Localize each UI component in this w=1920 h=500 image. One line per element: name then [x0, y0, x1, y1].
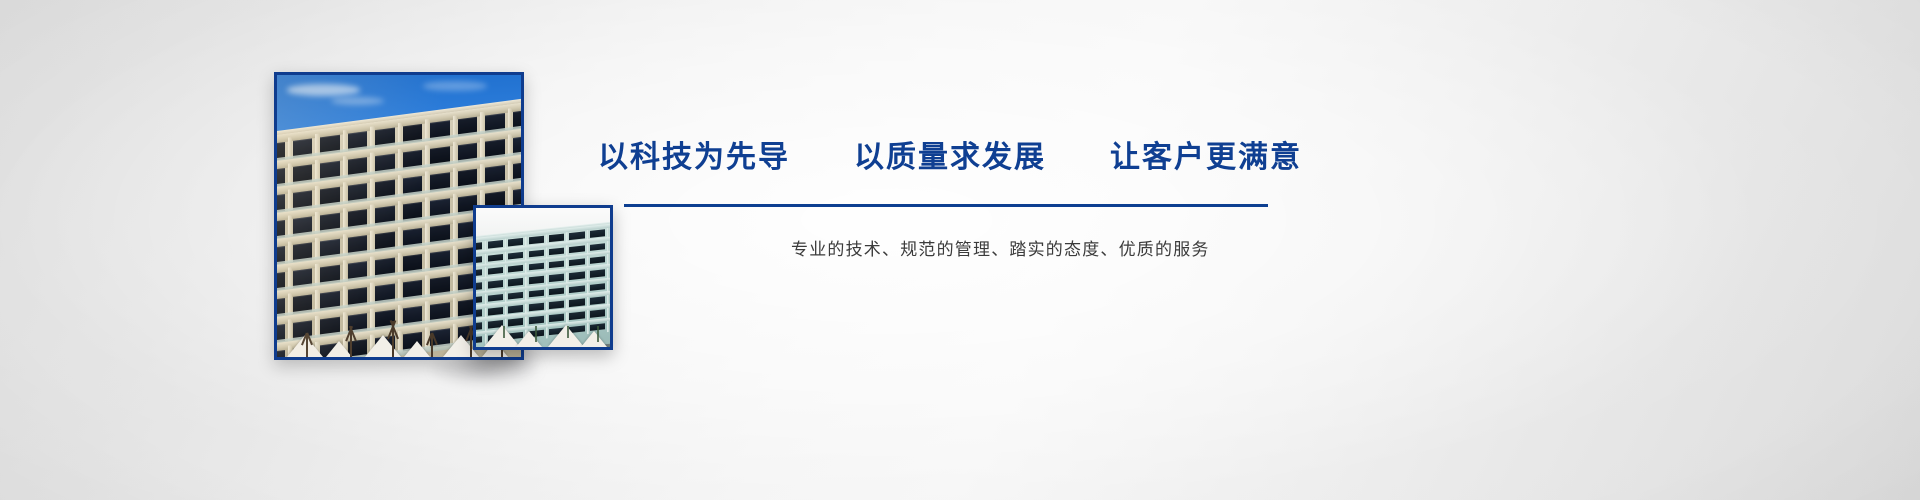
window-pane: [529, 235, 544, 243]
window-pane: [488, 307, 503, 315]
window-pane: [476, 269, 483, 277]
window-pane: [508, 291, 523, 299]
bare-tree: [392, 321, 394, 357]
window-pane: [590, 242, 605, 250]
tree: [535, 326, 537, 342]
cloud: [331, 97, 385, 105]
window-pane: [549, 300, 564, 308]
window-pane: [549, 260, 564, 268]
window-pane: [590, 283, 605, 291]
window-pane: [590, 256, 605, 264]
window-pane: [488, 266, 503, 274]
bare-tree: [306, 334, 308, 357]
foreground-objects: [476, 326, 610, 347]
window-pane: [570, 298, 585, 306]
window-pane: [476, 255, 483, 263]
window-pane: [549, 314, 564, 322]
window-pane: [549, 273, 564, 281]
window-pane: [476, 295, 483, 303]
secondary-building-photo: [473, 205, 613, 350]
window-pane: [570, 245, 585, 253]
window-pane: [529, 262, 544, 270]
banner-headline: 以科技为先导 以质量求发展 让客户更满意: [598, 139, 1302, 177]
bare-tree: [470, 327, 472, 357]
window-pane: [476, 282, 483, 290]
event-tent: [326, 341, 352, 357]
tree: [567, 326, 569, 339]
window-pane: [476, 242, 483, 250]
window-pane: [508, 264, 523, 272]
window-pane: [529, 276, 544, 284]
secondary-photo-image: [476, 208, 610, 347]
company-banner: 以科技为先导 以质量求发展 让客户更满意 专业的技术、规范的管理、踏实的态度、优…: [0, 0, 1920, 500]
window-pane: [590, 309, 605, 317]
window-pane: [590, 269, 605, 277]
event-tent: [581, 331, 607, 347]
window-pane: [590, 229, 605, 237]
window-pane: [488, 240, 503, 248]
window-pane: [529, 316, 544, 324]
window-pane: [476, 309, 483, 317]
window-pane: [570, 311, 585, 319]
tree: [597, 326, 599, 342]
window-pane: [488, 280, 503, 288]
window-pane: [570, 271, 585, 279]
window-pane: [508, 238, 523, 246]
window-pane: [590, 296, 605, 304]
tree: [503, 326, 505, 339]
cloud: [423, 81, 486, 90]
window-pane: [508, 278, 523, 286]
headline-divider: [624, 204, 1268, 207]
window-pane: [570, 285, 585, 293]
window-pane: [549, 247, 564, 255]
banner-subtitle: 专业的技术、规范的管理、踏实的态度、优质的服务: [791, 235, 1210, 260]
window-pane: [488, 293, 503, 301]
window-pane: [529, 249, 544, 257]
window-pane: [570, 258, 585, 266]
window-pane: [529, 302, 544, 310]
window-pane: [549, 287, 564, 295]
window-pane: [508, 251, 523, 259]
event-tent: [516, 331, 542, 347]
window-pane: [529, 289, 544, 297]
bare-tree: [431, 334, 433, 357]
event-tent: [365, 335, 401, 357]
window-pane: [549, 233, 564, 241]
window-pane: [488, 253, 503, 261]
window-pane: [508, 304, 523, 312]
window-pane: [570, 231, 585, 239]
bare-tree: [350, 327, 352, 357]
cloud: [287, 84, 360, 95]
